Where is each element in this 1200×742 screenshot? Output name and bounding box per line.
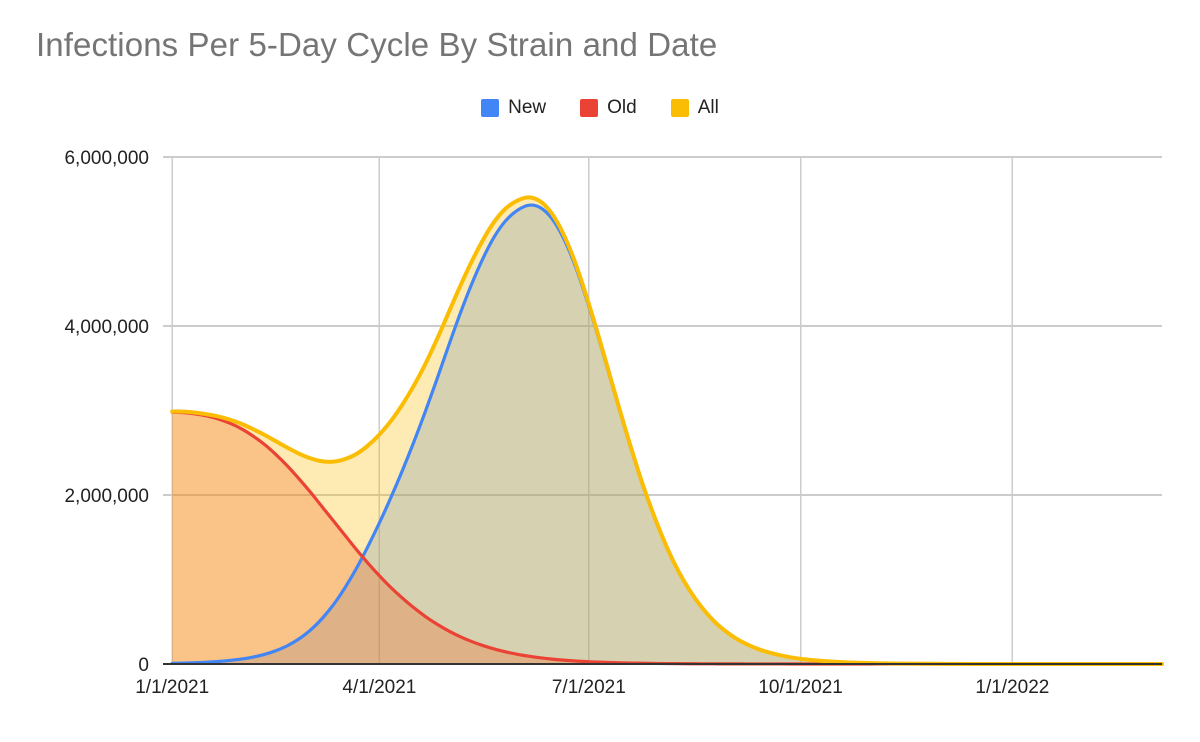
x-tick-label: 1/1/2022 — [975, 677, 1049, 698]
x-tick-label: 7/1/2021 — [552, 677, 626, 698]
chart-container: Infections Per 5-Day Cycle By Strain and… — [0, 0, 1200, 742]
x-tick-label: 10/1/2021 — [758, 677, 843, 698]
chart-plot: 02,000,0004,000,0006,000,000 1/1/20214/1… — [0, 0, 1200, 742]
x-tick-label: 1/1/2021 — [135, 677, 209, 698]
y-axis-tick-labels: 02,000,0004,000,0006,000,000 — [64, 148, 149, 676]
y-tick-label: 4,000,000 — [64, 317, 149, 338]
series-areas — [172, 197, 1162, 664]
y-tick-label: 2,000,000 — [64, 486, 149, 507]
series-area-all — [172, 197, 1162, 664]
y-tick-label: 0 — [138, 655, 149, 676]
x-tick-label: 4/1/2021 — [342, 677, 416, 698]
y-tick-label: 6,000,000 — [64, 148, 149, 169]
x-axis-tick-labels: 1/1/20214/1/20217/1/202110/1/20211/1/202… — [135, 677, 1049, 698]
